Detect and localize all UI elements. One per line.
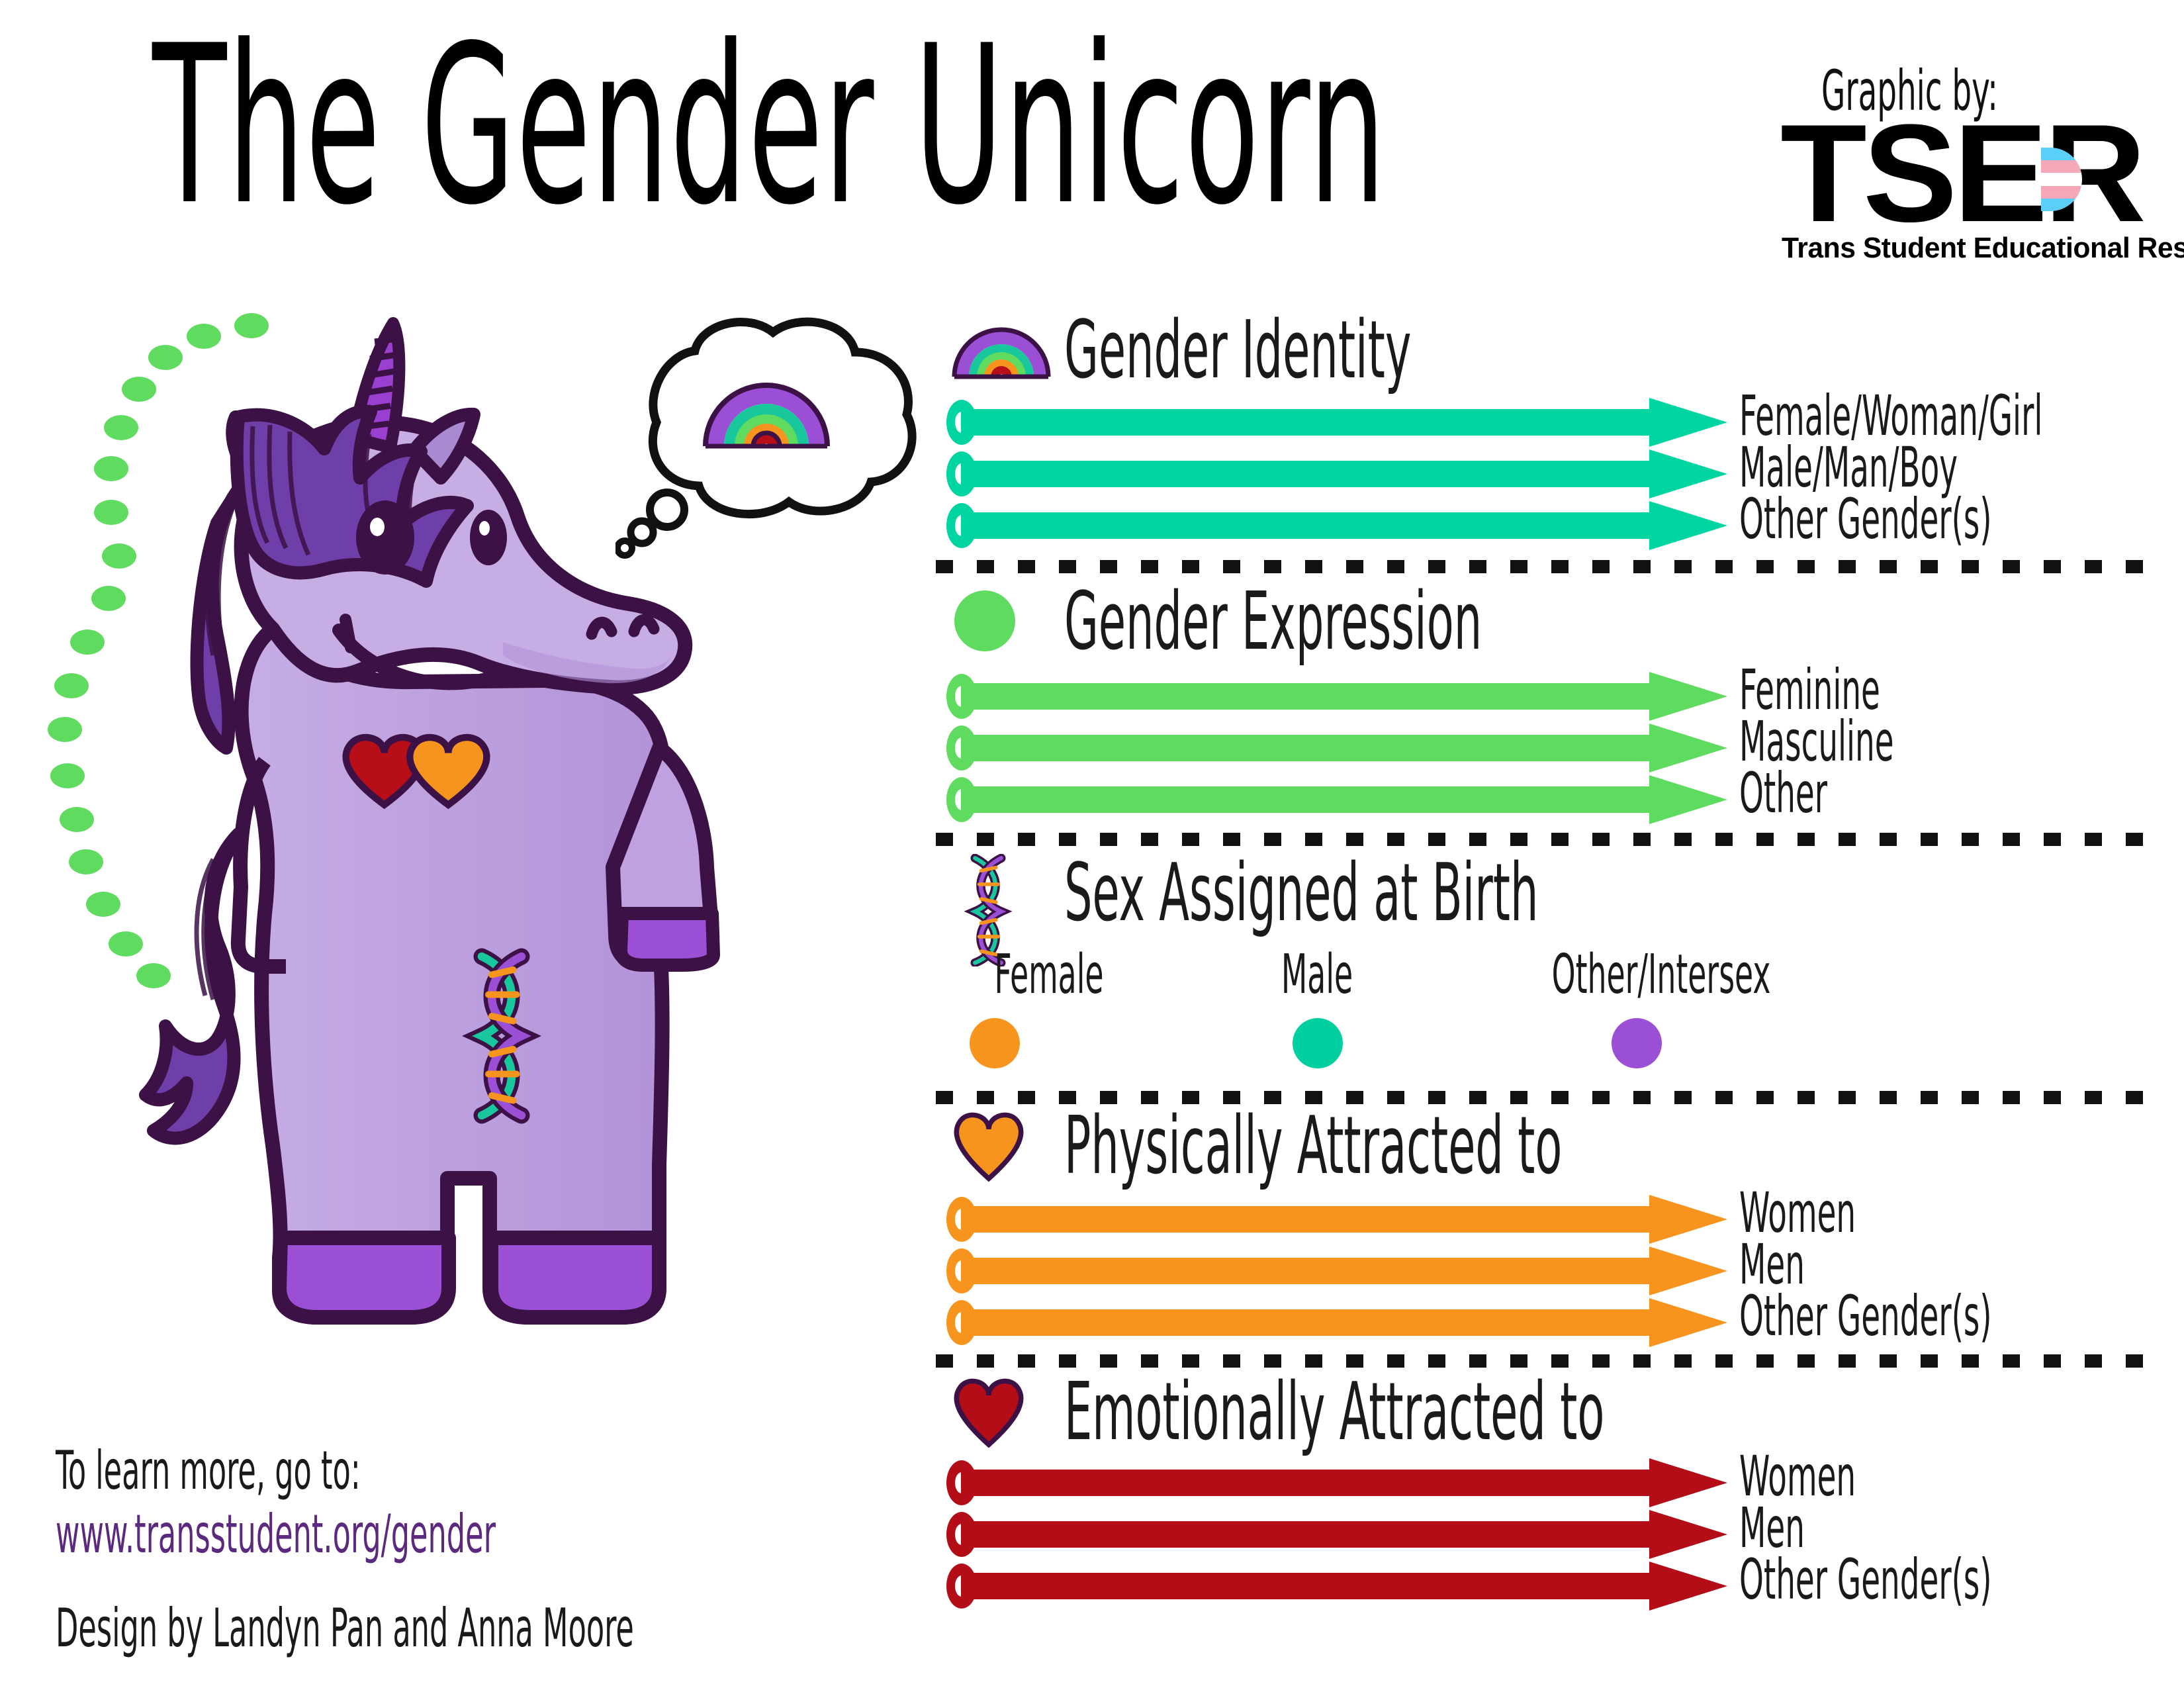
transstudent-link[interactable]: www.transstudent.org/gender	[56, 1508, 496, 1561]
divider-2	[936, 833, 2148, 846]
sab-dot-female	[970, 1018, 1020, 1068]
label-emotionally-attracted-3: Other Gender(s)	[1739, 1552, 1992, 1607]
infographic-root: The Gender Unicorn Graphic by: TSER Tran…	[0, 0, 2184, 1688]
section-title-emotionally-attracted-to: Emotionally Attracted to	[1064, 1373, 1604, 1452]
unicorn-hoof-right	[491, 1238, 659, 1317]
unicorn-body	[242, 629, 664, 1317]
divider-4	[936, 1354, 2148, 1368]
tser-full-name: Trans Student Educational Resources	[1782, 234, 2184, 263]
sab-dot-other-intersex	[1612, 1018, 1662, 1068]
sab-label-female: Female	[983, 948, 1115, 1002]
unicorn-hoof-left	[279, 1238, 449, 1317]
green-circle-icon-gender-expression	[954, 590, 1015, 651]
divider-1	[936, 560, 2148, 573]
tser-wordmark: TSER	[1780, 104, 2142, 243]
orange-heart-icon-physically-attracted	[952, 1112, 1026, 1182]
sab-label-male: Male	[1263, 948, 1370, 1002]
rainbow-icon-gender-identity	[952, 320, 1051, 381]
label-gender-identity-3: Other Gender(s)	[1739, 491, 1992, 547]
label-gender-expression-3: Other	[1739, 765, 1827, 821]
sab-dot-male	[1293, 1018, 1343, 1068]
sab-label-other-intersex: Other/Intersex	[1530, 948, 1793, 1002]
design-credit: Design by Landyn Pan and Anna Moore	[56, 1602, 634, 1655]
label-physically-attracted-3: Other Gender(s)	[1739, 1288, 1992, 1344]
section-title-physically-attracted-to: Physically Attracted to	[1064, 1107, 1562, 1186]
page-title: The Gender Unicorn	[152, 17, 1387, 235]
section-title-gender-identity: Gender Identity	[1064, 311, 1411, 391]
learn-more-label: To learn more, go to:	[56, 1444, 361, 1497]
red-heart-icon-emotionally-attracted	[952, 1378, 1026, 1448]
section-title-sex-assigned-at-birth: Sex Assigned at Birth	[1064, 854, 1538, 933]
thought-bubble	[615, 311, 920, 569]
unicorn-eye-left	[356, 500, 414, 575]
unicorn-eye-right	[470, 510, 507, 565]
section-title-gender-expression: Gender Expression	[1064, 583, 1482, 662]
